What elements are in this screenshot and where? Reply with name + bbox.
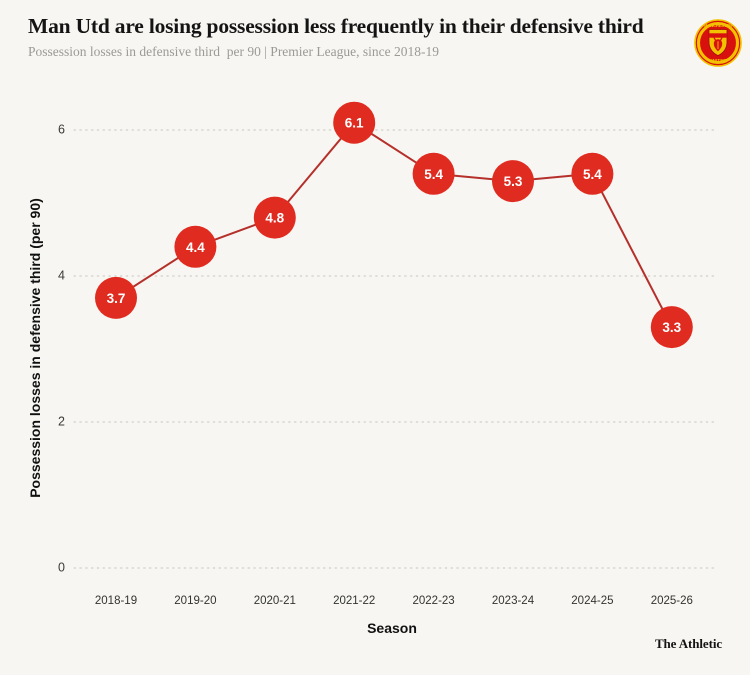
y-axis-tick-label: 6 [58,122,65,136]
x-axis-tick-labels: 2018-192019-202020-212021-222022-232023-… [95,595,693,607]
y-axis-tick-label: 0 [58,560,65,574]
data-point-value-label: 3.3 [662,320,681,335]
x-axis-tick-label: 2020-21 [254,595,296,607]
data-point-value-label: 5.4 [424,167,443,182]
x-axis-tick-label: 2022-23 [412,595,454,607]
chart-plot-area: 0246 2018-192019-202020-212021-222022-23… [0,0,750,675]
x-axis-tick-label: 2025-26 [651,595,693,607]
y-axis-tick-label: 2 [58,414,65,428]
data-point-markers: 3.74.44.86.15.45.35.43.3 [95,102,693,348]
data-point-value-label: 4.4 [186,240,205,255]
gridlines [74,130,714,568]
y-axis-title: Possession losses in defensive third (pe… [27,198,43,498]
brand-watermark: The Athletic [655,636,722,652]
x-axis-tick-label: 2024-25 [571,595,613,607]
y-axis-tick-label: 4 [58,268,65,282]
x-axis-tick-label: 2021-22 [333,595,375,607]
data-point-value-label: 4.8 [265,211,284,226]
x-axis-tick-label: 2018-19 [95,595,137,607]
x-axis-title: Season [367,620,417,636]
x-axis-tick-label: 2023-24 [492,595,535,607]
data-point-value-label: 6.1 [345,116,364,131]
data-point-value-label: 5.3 [504,174,523,189]
x-axis-tick-label: 2019-20 [174,595,216,607]
y-axis-tick-labels: 0246 [58,122,65,574]
data-point-value-label: 3.7 [107,291,126,306]
data-point-value-label: 5.4 [583,167,602,182]
